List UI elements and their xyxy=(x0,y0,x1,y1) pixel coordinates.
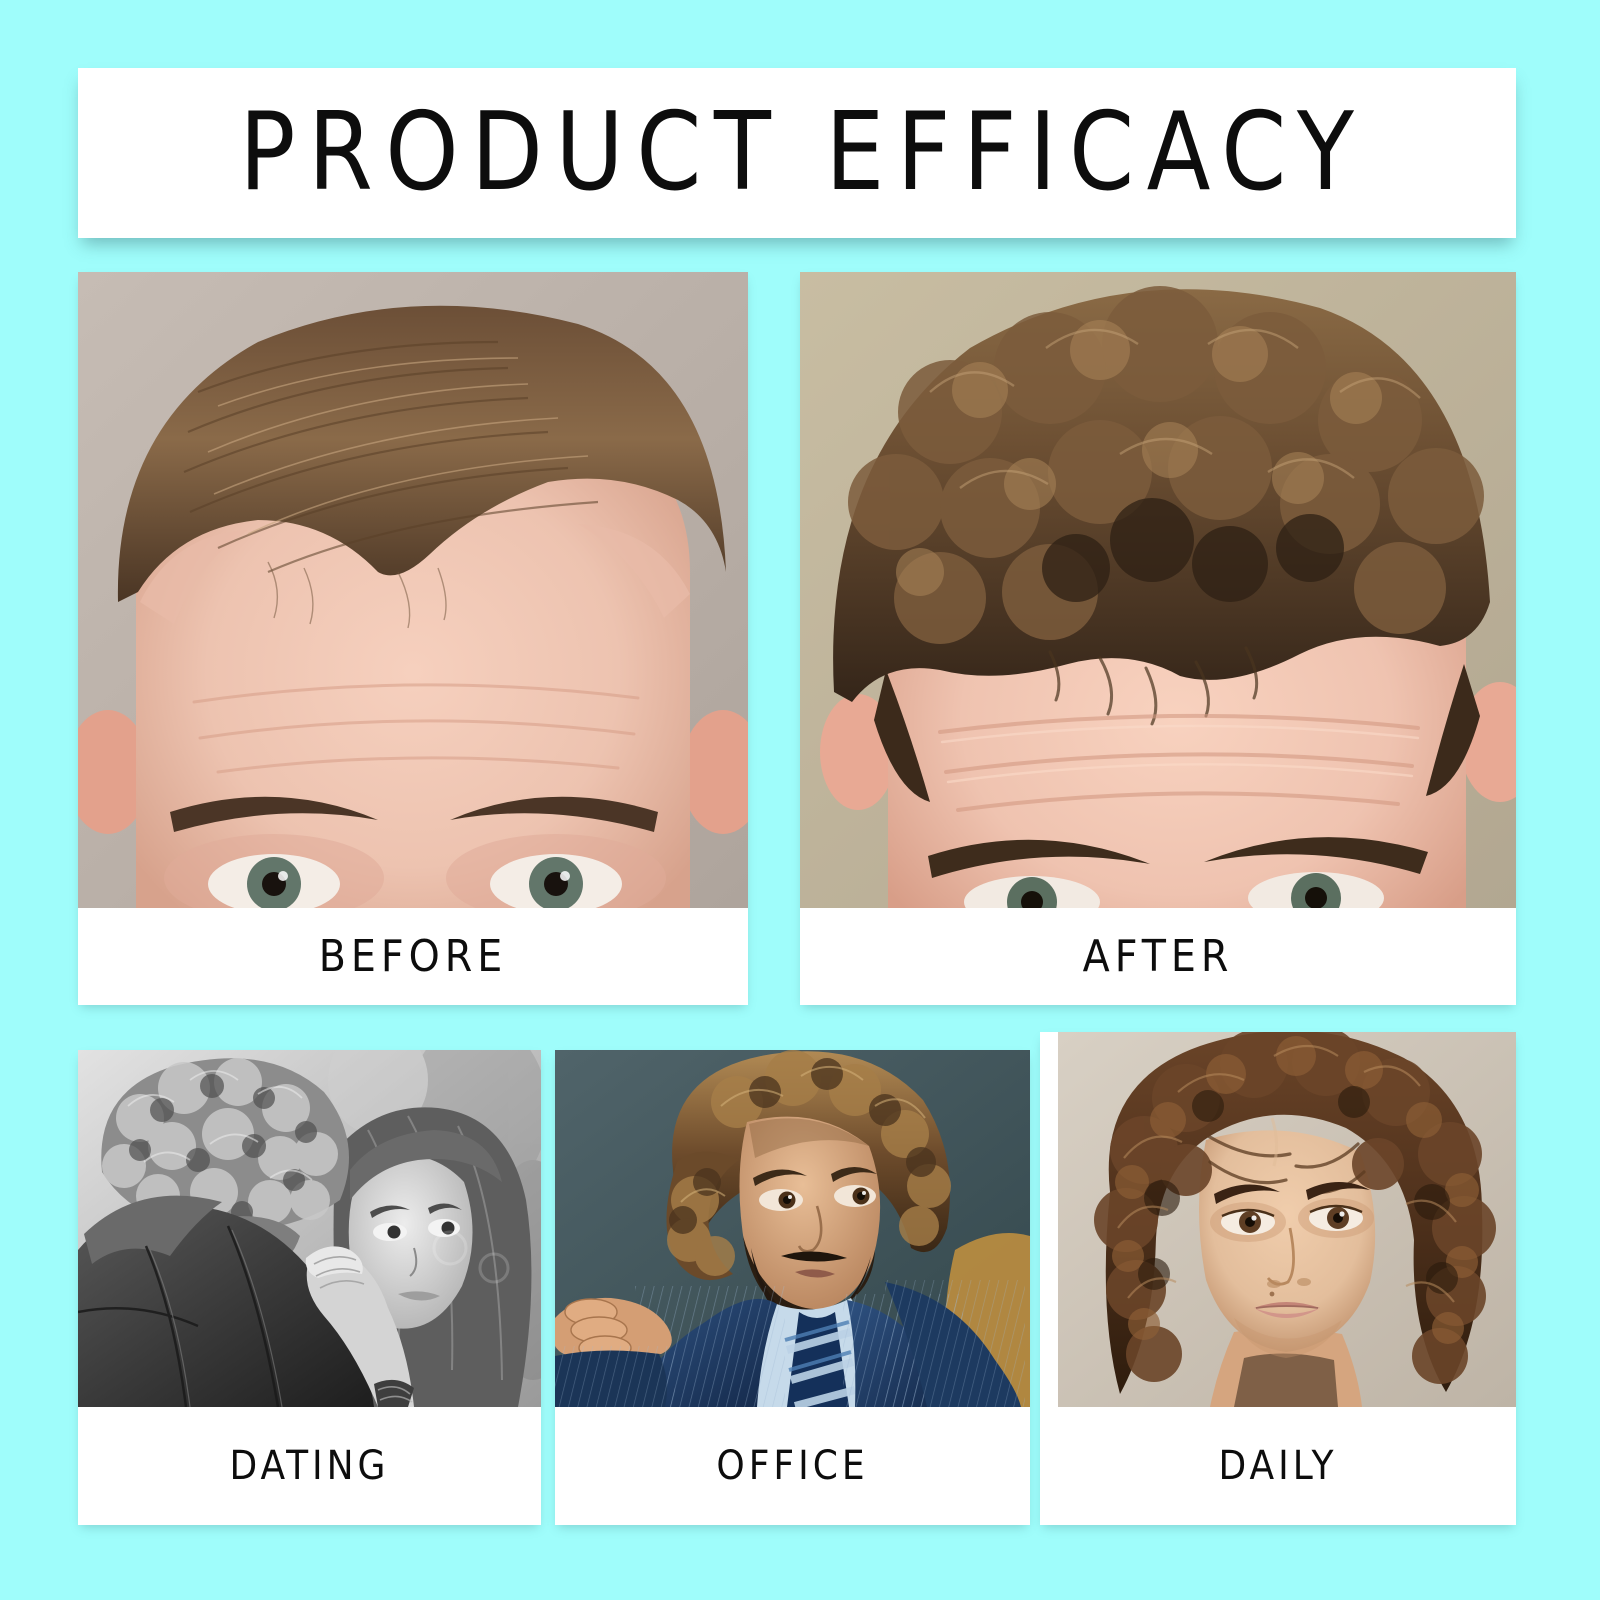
after-hairline-photo xyxy=(800,272,1516,908)
after-caption: AFTER xyxy=(800,908,1516,1005)
daily-portrait-photo xyxy=(1058,1032,1516,1407)
title-card: PRODUCT EFFICACY xyxy=(78,68,1516,238)
dating-caption: DATING xyxy=(78,1407,541,1525)
dating-couple-photo xyxy=(78,1050,541,1407)
office-caption: OFFICE xyxy=(555,1407,1030,1525)
after-card: AFTER xyxy=(800,272,1516,1005)
before-card: BEFORE xyxy=(78,272,748,1005)
dating-card: DATING xyxy=(78,1050,541,1525)
daily-card: DAILY xyxy=(1040,1032,1516,1525)
daily-caption: DAILY xyxy=(1040,1407,1516,1525)
office-card: OFFICE xyxy=(555,1050,1030,1525)
before-hairline-photo xyxy=(78,272,748,908)
office-businessman-photo xyxy=(555,1050,1030,1407)
page-title: PRODUCT EFFICACY xyxy=(227,99,1367,207)
before-caption: BEFORE xyxy=(78,908,748,1005)
